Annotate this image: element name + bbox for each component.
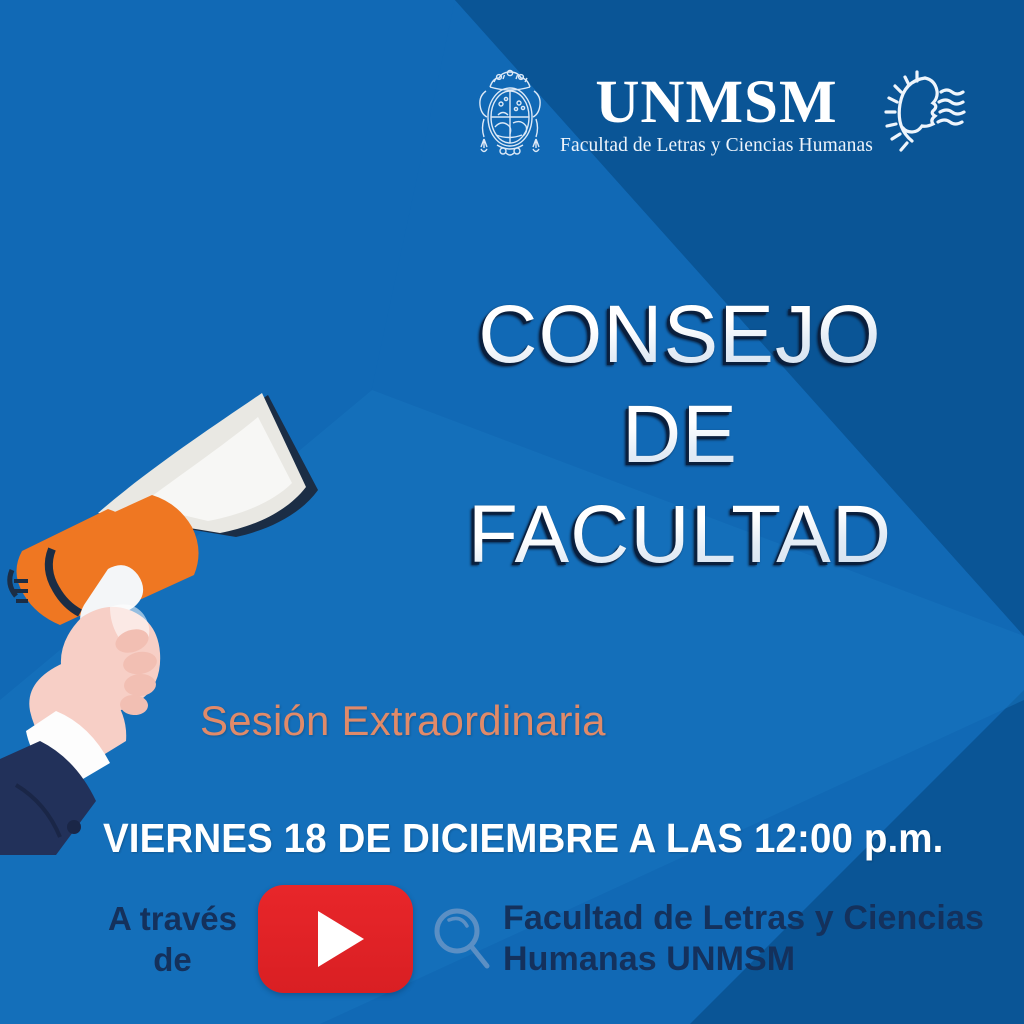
title-line-1: CONSEJO (430, 285, 930, 385)
hand-holding-megaphone-illustration (0, 355, 380, 855)
youtube-play-button[interactable] (258, 885, 413, 993)
brand-subtitle: Facultad de Letras y Ciencias Humanas (560, 135, 873, 157)
via-label-line1: A través (108, 900, 237, 937)
magnifier-icon (431, 904, 493, 974)
session-type-label: Sesión Extraordinaria (200, 697, 606, 745)
main-title: CONSEJO DE FACULTAD (430, 285, 930, 585)
letras-face-sun-icon (881, 66, 967, 166)
youtube-channel-name: Facultad de Letras y Ciencias Humanas UN… (503, 898, 995, 981)
header-logo-bar: UNMSM Facultad de Letras y Ciencias Huma… (470, 58, 945, 173)
poster-canvas: UNMSM Facultad de Letras y Ciencias Huma… (0, 0, 1024, 1024)
unmsm-coat-of-arms-icon (470, 65, 550, 167)
via-label-line2: de (95, 939, 250, 980)
event-datetime: VIERNES 18 DE DICIEMBRE A LAS 12:00 p.m. (103, 815, 943, 862)
channel-name-line1: Facultad de Letras y Ciencias (503, 899, 984, 937)
brand-text-block: UNMSM Facultad de Letras y Ciencias Huma… (560, 73, 873, 157)
channel-name-line2: Humanas UNMSM (503, 939, 995, 980)
title-line-3: FACULTAD (430, 485, 930, 585)
brand-title: UNMSM (560, 73, 873, 133)
youtube-play-icon (318, 911, 364, 967)
via-label: A través de (95, 898, 250, 981)
title-line-2: DE (430, 385, 930, 485)
broadcast-footer: A través de Facultad de Letras y Ciencia… (95, 884, 995, 994)
